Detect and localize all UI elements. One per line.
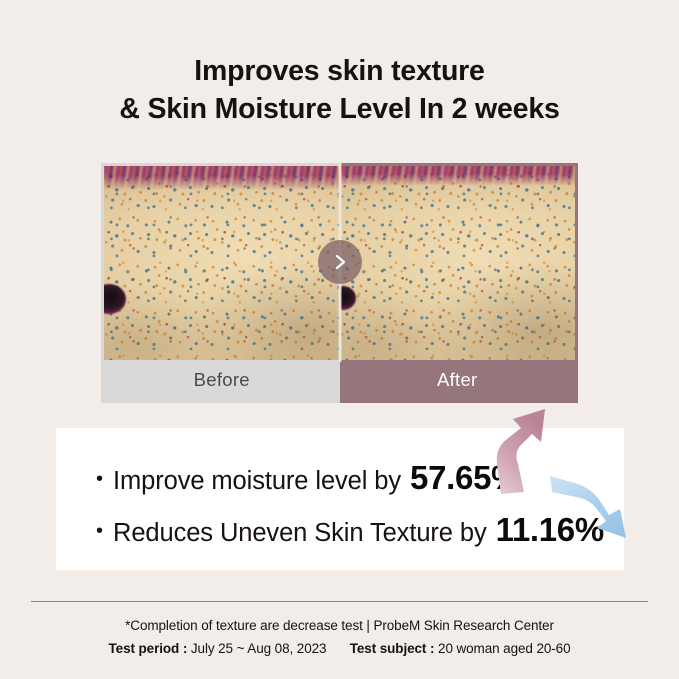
before-skin-image: [104, 166, 340, 360]
title-line-1: Improves skin texture: [0, 52, 679, 90]
stat-label: Improve moisture level by: [113, 467, 401, 496]
bullet-icon: •: [96, 521, 103, 541]
footer-line-2: Test period : July 25 ~ Aug 08, 2023 Tes…: [0, 637, 679, 660]
stat-row: • Reduces Uneven Skin Texture by 11.16%: [96, 511, 604, 549]
footer-divider: [31, 601, 648, 602]
stat-row: • Improve moisture level by 57.65%: [96, 459, 520, 497]
stats-panel: • Improve moisture level by 57.65% • Red…: [56, 428, 624, 570]
before-label-bar: Before: [104, 360, 340, 400]
test-period-label: Test period :: [109, 641, 188, 656]
bullet-icon: •: [96, 469, 103, 489]
after-pane: After: [340, 163, 579, 403]
skin-top-band: [340, 166, 576, 186]
title-line-2: & Skin Moisture Level In 2 weeks: [0, 90, 679, 128]
after-label: After: [437, 369, 478, 391]
skin-top-band: [104, 166, 340, 190]
page-title: Improves skin texture & Skin Moisture Le…: [0, 52, 679, 128]
footer-line-1: *Completion of texture are decrease test…: [0, 614, 679, 637]
stat-value: 11.16%: [496, 511, 604, 549]
test-period-value: July 25 ~ Aug 08, 2023: [191, 641, 327, 656]
test-subject-label: Test subject :: [350, 641, 435, 656]
chevron-right-icon[interactable]: [318, 240, 362, 284]
stat-label: Reduces Uneven Skin Texture by: [113, 519, 487, 548]
before-after-comparison: Before After: [101, 163, 578, 403]
after-skin-image: [340, 166, 576, 360]
footer: *Completion of texture are decrease test…: [0, 614, 679, 660]
test-subject-value: 20 woman aged 20-60: [438, 641, 570, 656]
after-label-bar: After: [340, 360, 576, 400]
skin-shading-layer: [104, 166, 340, 360]
before-label: Before: [194, 369, 250, 391]
skin-shading-layer: [340, 166, 576, 360]
before-pane: Before: [101, 163, 340, 403]
stat-value: 57.65%: [410, 459, 520, 497]
